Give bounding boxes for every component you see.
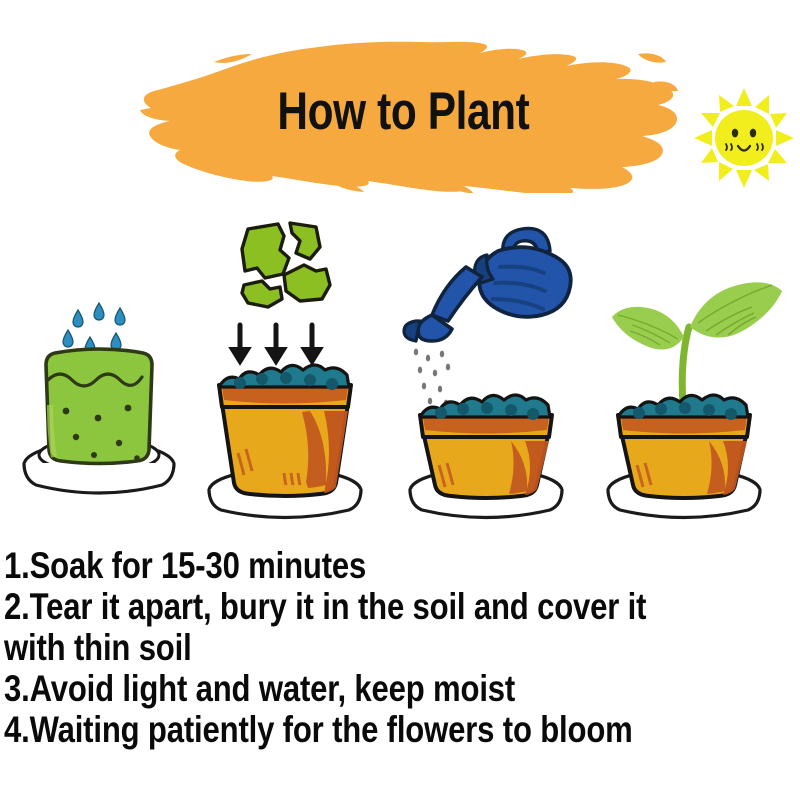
instruction-line-1: 1.Soak for 15-30 minutes — [4, 545, 671, 586]
torn-brick-pieces — [242, 223, 330, 307]
step-sprout-grows — [580, 215, 795, 525]
instruction-line-2: 2.Tear it apart, bury it in the soil and… — [4, 586, 671, 627]
flower-pot — [219, 365, 351, 496]
header-area: How to Plant — [0, 0, 800, 215]
water-stream — [414, 349, 450, 407]
steps-illustration-row — [0, 215, 800, 525]
page-title: How to Plant — [175, 38, 628, 193]
soil — [618, 395, 748, 420]
water-droplets — [63, 303, 125, 354]
sun-smiling-icon — [692, 86, 796, 190]
watering-can — [404, 228, 571, 341]
instruction-line-4: 4.Waiting patiently for the flowers to b… — [4, 709, 671, 750]
soil — [219, 365, 349, 390]
how-to-plant-infographic: How to Plant — [0, 0, 800, 800]
seedling-sprout — [612, 282, 782, 405]
soil — [420, 395, 550, 420]
down-arrows — [230, 325, 322, 364]
instruction-line-3: 3.Avoid light and water, keep moist — [4, 668, 671, 709]
step-soak-brick — [6, 215, 192, 525]
step-tear-and-fill — [192, 215, 382, 525]
flower-pot — [618, 395, 750, 498]
green-soil-brick — [46, 349, 152, 464]
step-water-pot — [386, 215, 586, 525]
instructions-list: 1.Soak for 15-30 minutes 2.Tear it apart… — [4, 545, 798, 795]
instruction-line-2-cont: with thin soil — [4, 627, 671, 668]
flower-pot — [420, 395, 552, 498]
